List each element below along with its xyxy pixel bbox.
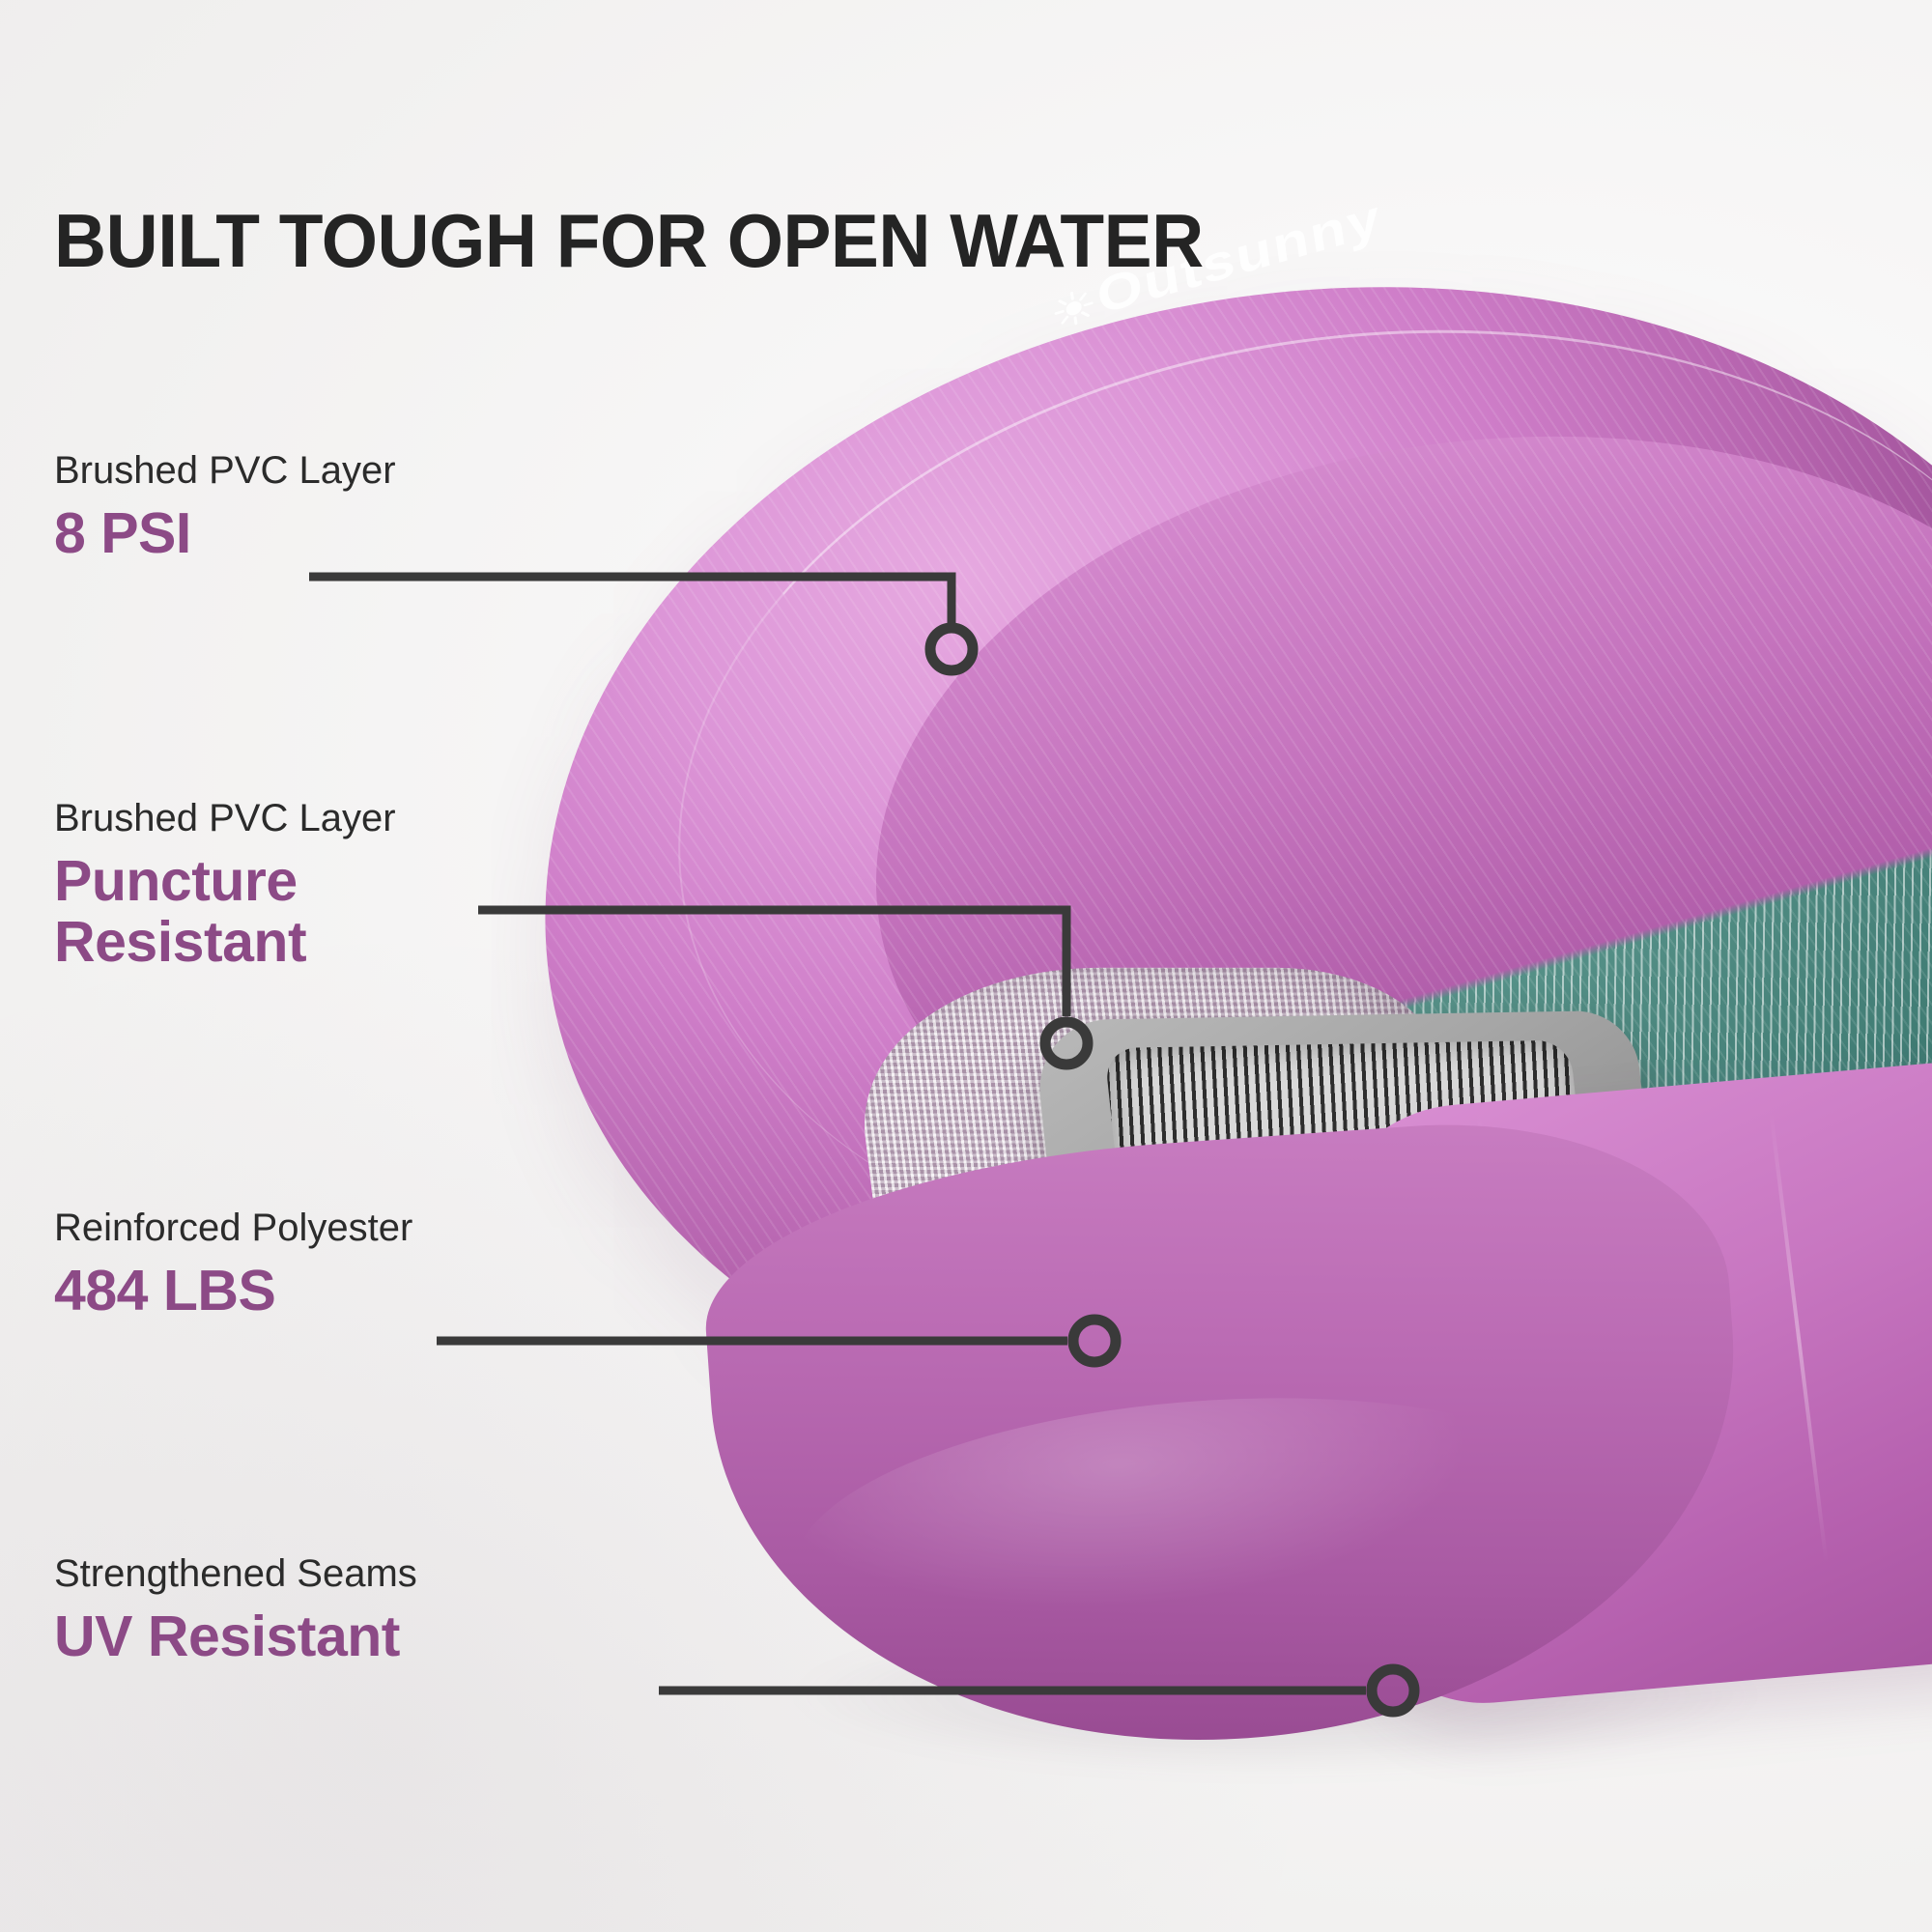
callout-puncture-sublabel: Brushed PVC Layer (54, 798, 469, 838)
callout-polyester: Reinforced Polyester 484 LBS (54, 1207, 412, 1321)
page-title: BUILT TOUGH FOR OPEN WATER (54, 197, 1204, 285)
callout-psi: Brushed PVC Layer 8 PSI (54, 450, 396, 564)
callout-uv-value: UV Resistant (54, 1606, 417, 1667)
callout-uv-sublabel: Strengthened Seams (54, 1553, 417, 1594)
callout-psi-sublabel: Brushed PVC Layer (54, 450, 396, 491)
callout-polyester-sublabel: Reinforced Polyester (54, 1207, 412, 1248)
callout-psi-value: 8 PSI (54, 503, 396, 564)
callout-puncture: Brushed PVC Layer Puncture Resistant (54, 798, 469, 972)
callout-polyester-value: 484 LBS (54, 1261, 412, 1321)
callout-puncture-value: Puncture Resistant (54, 851, 469, 972)
infographic-canvas: Outsunny BUILT TOUGH FOR OPEN WATER Brus… (0, 0, 1932, 1932)
callout-uv: Strengthened Seams UV Resistant (54, 1553, 417, 1667)
